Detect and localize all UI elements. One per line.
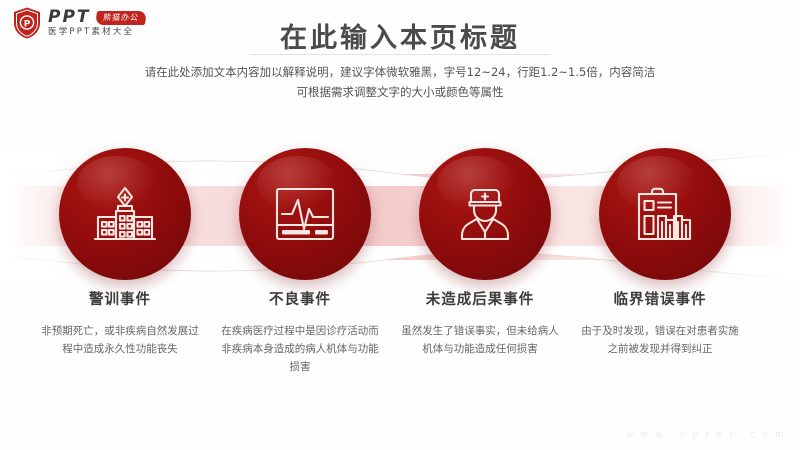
hospital-building-icon[interactable] xyxy=(59,148,191,280)
title-divider xyxy=(0,54,800,55)
caption-body: 由于及时发现，错误在对患者实施之前被发现并得到纠正 xyxy=(570,322,750,358)
slide-canvas: P PPT 熊猫办公 医学PPT素材大全 在此输入本页标题 请在此处添加文本内容… xyxy=(0,0,800,450)
subtitle-line-1: 请在此处添加文本内容加以解释说明，建议字体微软雅黑，字号12~24，行距1.2~… xyxy=(0,62,800,82)
page-title: 在此输入本页标题 xyxy=(0,16,800,55)
icon-circle-item-3[interactable] xyxy=(395,148,575,284)
site-watermark: w w w . p p t e r . c o m xyxy=(626,430,786,440)
icon-circle-item-2[interactable] xyxy=(215,148,395,284)
icon-circle-row xyxy=(0,148,800,284)
caption-body: 在疾病医疗过程中是因诊疗活动而非疾病本身造成的病人机体与功能损害 xyxy=(210,322,390,376)
caption-item-3: 未造成后果事件 虽然发生了错误事实，但未给病人机体与功能造成任何损害 xyxy=(390,288,570,358)
ecg-monitor-icon[interactable] xyxy=(239,148,371,280)
caption-item-1: 警训事件 非预期死亡，或非疾病自然发展过程中造成永久性功能丧失 xyxy=(30,288,210,358)
caption-row: 警训事件 非预期死亡，或非疾病自然发展过程中造成永久性功能丧失 不良事件 在疾病… xyxy=(0,288,800,428)
caption-item-2: 不良事件 在疾病医疗过程中是因诊疗活动而非疾病本身造成的病人机体与功能损害 xyxy=(210,288,390,376)
doctor-nurse-icon[interactable] xyxy=(419,148,551,280)
caption-heading: 警训事件 xyxy=(30,288,210,309)
clipboard-chart-icon[interactable] xyxy=(599,148,731,280)
caption-body: 虽然发生了错误事实，但未给病人机体与功能造成任何损害 xyxy=(390,322,570,358)
caption-heading: 临界错误事件 xyxy=(570,288,750,309)
icon-circle-item-1[interactable] xyxy=(35,148,215,284)
caption-item-4: 临界错误事件 由于及时发现，错误在对患者实施之前被发现并得到纠正 xyxy=(570,288,750,358)
icon-circle-item-4[interactable] xyxy=(575,148,755,284)
caption-heading: 未造成后果事件 xyxy=(390,288,570,309)
page-subtitle: 请在此处添加文本内容加以解释说明，建议字体微软雅黑，字号12~24，行距1.2~… xyxy=(0,62,800,102)
caption-heading: 不良事件 xyxy=(210,288,390,309)
caption-body: 非预期死亡，或非疾病自然发展过程中造成永久性功能丧失 xyxy=(30,322,210,358)
subtitle-line-2: 可根据需求调整文字的大小或颜色等属性 xyxy=(0,82,800,102)
